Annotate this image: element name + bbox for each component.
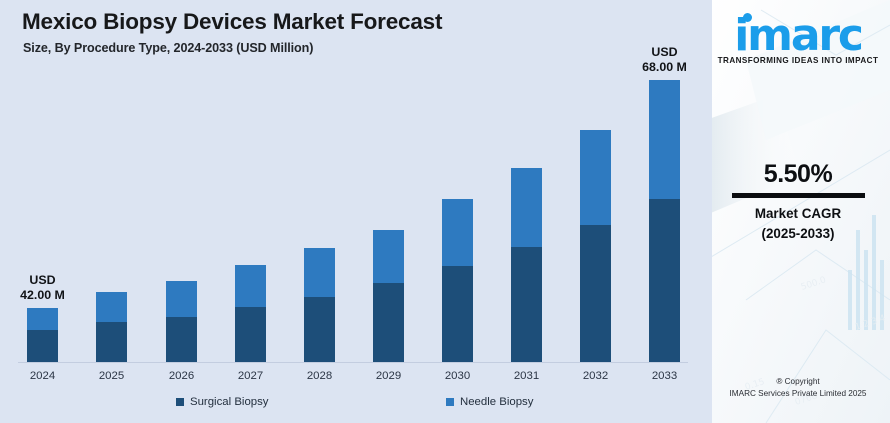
cagr-value: 5.50% <box>706 160 890 189</box>
brand-panel: 500.0 1 2 3 4 0.15 0768 imarc TRANSFORMI… <box>706 0 890 423</box>
x-tick-2031: 2031 <box>497 370 557 382</box>
logo-wordmark-text: imarc <box>734 10 861 61</box>
bar-segment-surgical-2033 <box>649 199 680 362</box>
chart-panel: Mexico Biopsy Devices Market Forecast Si… <box>0 0 706 423</box>
bar-segment-surgical-2027 <box>235 307 266 362</box>
bar-segment-surgical-2028 <box>304 297 335 362</box>
bar-segment-needle-2032 <box>580 130 611 225</box>
x-tick-2029: 2029 <box>359 370 419 382</box>
bar-segment-needle-2029 <box>373 230 404 283</box>
value-callout-first: USD 42.00 M <box>0 273 91 303</box>
legend-label: Needle Biopsy <box>460 396 533 408</box>
callout-last-line1: USD <box>617 45 713 60</box>
legend-swatch-icon <box>446 398 454 406</box>
legend-item-surgical-biopsy[interactable]: Surgical Biopsy <box>176 396 269 408</box>
bar-segment-needle-2030 <box>442 199 473 266</box>
bar-segment-surgical-2031 <box>511 247 542 362</box>
logo-wordmark: imarc <box>734 14 861 58</box>
bar-segment-needle-2026 <box>166 281 197 317</box>
x-tick-2025: 2025 <box>82 370 142 382</box>
imarc-logo: imarc TRANSFORMING IDEAS INTO IMPACT <box>706 14 890 65</box>
chart-screenshot: Mexico Biopsy Devices Market Forecast Si… <box>0 0 890 423</box>
bar-2032 <box>580 130 611 362</box>
bar-2027 <box>235 265 266 362</box>
bar-segment-needle-2024 <box>27 308 58 330</box>
legend-item-needle-biopsy[interactable]: Needle Biopsy <box>446 396 533 408</box>
value-callout-last: USD 68.00 M <box>617 45 713 75</box>
bar-segment-surgical-2024 <box>27 330 58 362</box>
x-tick-2032: 2032 <box>566 370 626 382</box>
copyright-line1: ® Copyright <box>706 376 890 388</box>
cagr-label-line2: (2025-2033) <box>706 224 890 244</box>
callout-first-line2: 42.00 M <box>0 288 91 303</box>
bar-segment-surgical-2026 <box>166 317 197 362</box>
x-tick-2024: 2024 <box>13 370 73 382</box>
callout-first-line1: USD <box>0 273 91 288</box>
bar-2024 <box>27 308 58 362</box>
x-tick-2028: 2028 <box>290 370 350 382</box>
cagr-label-line1: Market CAGR <box>706 204 890 224</box>
bar-2033 <box>649 80 680 362</box>
x-tick-2026: 2026 <box>152 370 212 382</box>
bar-segment-surgical-2029 <box>373 283 404 362</box>
bar-2029 <box>373 230 404 362</box>
bar-2030 <box>442 199 473 362</box>
copyright-line2: IMARC Services Private Limited 2025 <box>706 388 890 400</box>
bar-segment-needle-2031 <box>511 168 542 247</box>
bar-2028 <box>304 248 335 362</box>
legend-swatch-icon <box>176 398 184 406</box>
bar-segment-surgical-2032 <box>580 225 611 362</box>
cagr-block: 5.50% Market CAGR (2025-2033) <box>706 160 890 244</box>
x-tick-2027: 2027 <box>221 370 281 382</box>
bar-segment-surgical-2025 <box>96 322 127 362</box>
bar-2025 <box>96 292 127 362</box>
bar-segment-needle-2027 <box>235 265 266 307</box>
x-tick-2033: 2033 <box>635 370 695 382</box>
bar-2026 <box>166 281 197 362</box>
bar-segment-needle-2033 <box>649 80 680 199</box>
callout-last-line2: 68.00 M <box>617 60 713 75</box>
bar-segment-needle-2025 <box>96 292 127 322</box>
x-tick-2030: 2030 <box>428 370 488 382</box>
copyright-notice: ® Copyright IMARC Services Private Limit… <box>706 376 890 399</box>
chart-legend: Surgical BiopsyNeedle Biopsy <box>0 396 706 416</box>
bar-segment-surgical-2030 <box>442 266 473 362</box>
cagr-divider <box>732 193 865 198</box>
x-axis-line <box>18 362 688 363</box>
legend-label: Surgical Biopsy <box>190 396 269 408</box>
plot-area: 2024202520262027202820292030203120322033… <box>0 0 706 423</box>
bar-2031 <box>511 168 542 362</box>
bar-segment-needle-2028 <box>304 248 335 297</box>
